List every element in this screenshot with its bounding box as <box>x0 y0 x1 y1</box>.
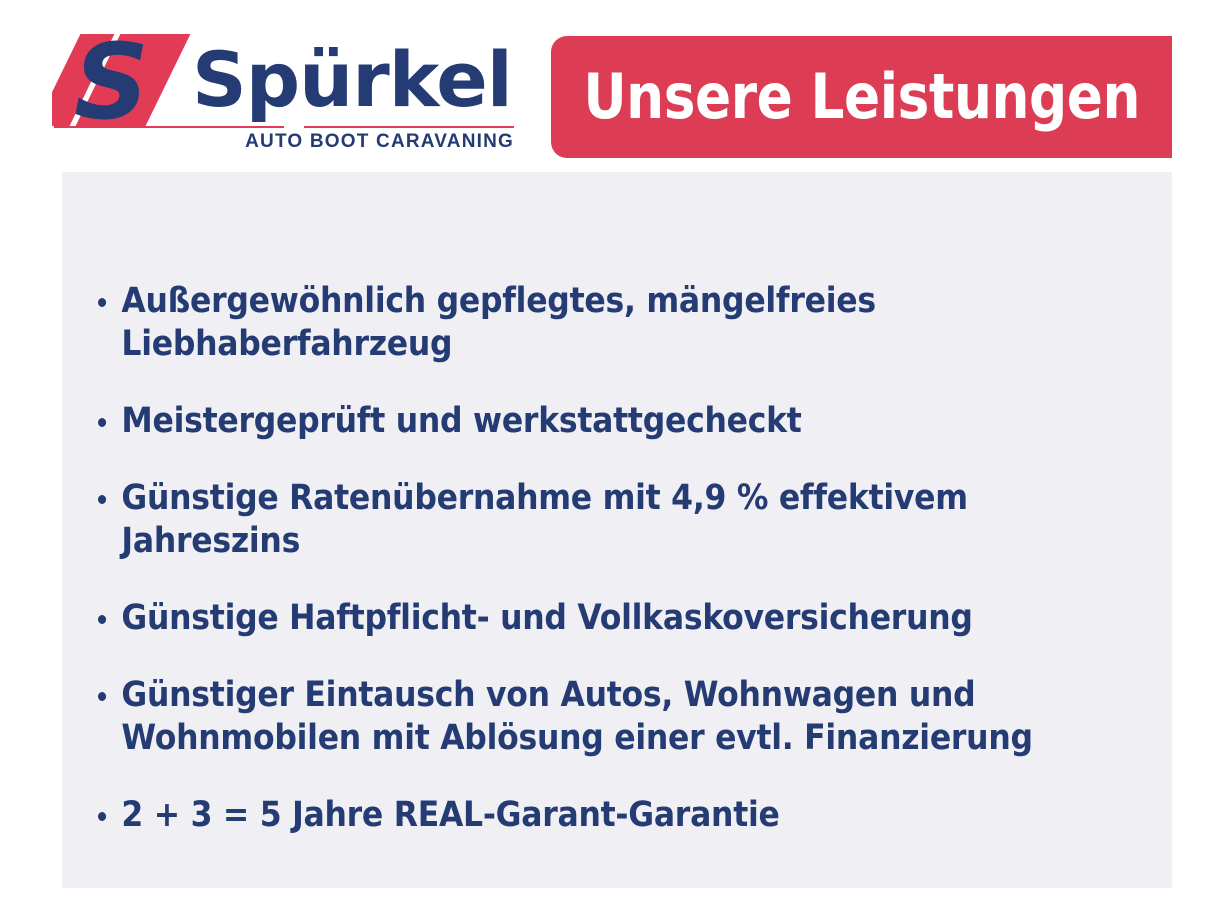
list-item: Meistergeprüft und werkstattgecheckt <box>98 400 1048 443</box>
bullet-dot-icon <box>98 692 106 701</box>
list-item-label: Meistergeprüft und werkstattgecheckt <box>121 400 1047 443</box>
spuerkel-s-monogram-icon: S <box>52 34 202 126</box>
headline-banner: Unsere Leistungen <box>551 36 1172 158</box>
list-item: Günstige Ratenübernahme mit 4,9 % effekt… <box>98 477 1048 563</box>
services-panel: Außergewöhnlich gepflegtes, mängelfreies… <box>62 172 1172 888</box>
list-item: Günstige Haftpflicht- und Vollkaskoversi… <box>98 597 1048 640</box>
bullet-dot-icon <box>98 418 106 427</box>
company-logo: S Spürkel AUTO BOOT CARAVANING <box>52 30 472 155</box>
list-item-label: 2 + 3 = 5 Jahre REAL-Garant-Garantie <box>121 794 1047 837</box>
bullet-dot-icon <box>98 615 106 624</box>
list-item: 2 + 3 = 5 Jahre REAL-Garant-Garantie <box>98 794 1048 837</box>
list-item-label: Günstige Ratenübernahme mit 4,9 % effekt… <box>121 477 1047 563</box>
logo-wordmark: Spürkel <box>192 36 512 124</box>
services-bullet-list: Außergewöhnlich gepflegtes, mängelfreies… <box>98 280 1153 837</box>
list-item-label: Außergewöhnlich gepflegtes, mängelfreies… <box>121 280 1047 366</box>
logo-rule-right <box>304 126 514 128</box>
logo-tagline: AUTO BOOT CARAVANING <box>244 130 514 154</box>
logo-rule-left <box>54 126 284 128</box>
page-header: S Spürkel AUTO BOOT CARAVANING Unsere Le… <box>0 0 1231 172</box>
list-item: Günstiger Eintausch von Autos, Wohnwagen… <box>98 674 1048 760</box>
headline-banner-title: Unsere Leistungen <box>583 66 1140 128</box>
bullet-dot-icon <box>98 298 106 307</box>
list-item-label: Günstiger Eintausch von Autos, Wohnwagen… <box>121 674 1047 760</box>
bullet-dot-icon <box>98 495 106 504</box>
list-item: Außergewöhnlich gepflegtes, mängelfreies… <box>98 280 1048 366</box>
list-item-label: Günstige Haftpflicht- und Vollkaskoversi… <box>121 597 1047 640</box>
bullet-dot-icon <box>98 812 106 821</box>
logo-monogram-letter: S <box>74 34 194 126</box>
